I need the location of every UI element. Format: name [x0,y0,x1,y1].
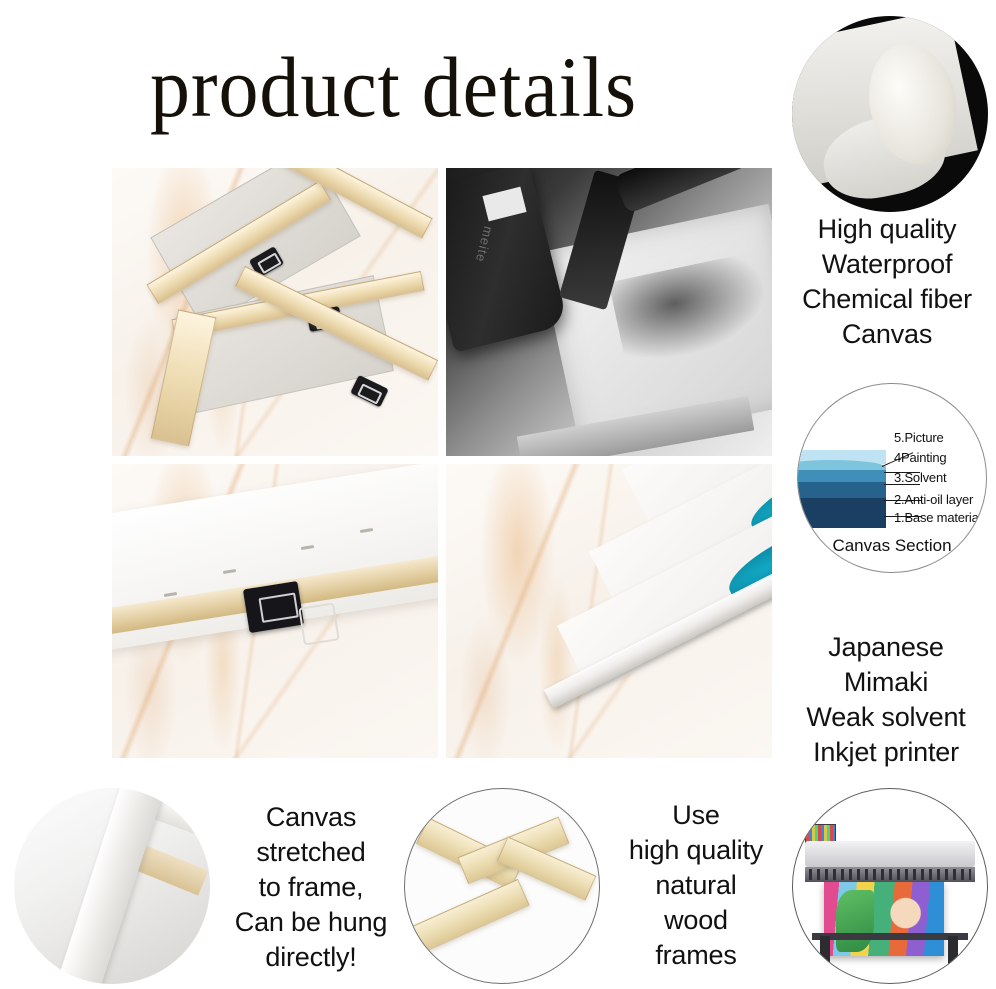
layer-label-2: 2.Anti-oil layer [894,492,973,507]
wood-frame-photo [404,788,600,984]
layer-label-5: 5.Picture [894,430,944,445]
stacked-canvas-photo [446,464,772,758]
canvas-roll-photo [792,16,988,212]
layer-label-3: 3.Solvent [894,470,946,485]
canvas-bracket-photo [112,464,438,758]
wall-hook-icon [298,603,339,646]
wooden-frames-photo [112,168,438,456]
staple-gun-photo: meite [446,168,772,456]
canvas-cross-section [797,450,886,528]
hanging-bracket-icon [243,580,305,632]
layer-label-4: 4Painting [894,450,946,465]
wood-frame-caption: Use high quality natural wood frames [606,798,786,973]
stretched-canvas-photo [14,788,210,984]
stretched-canvas-caption: Canvas stretched to frame, Can be hung d… [216,800,406,975]
page-title: product details [150,48,745,126]
canvas-section-caption: Canvas Section [798,536,986,556]
canvas-section-diagram: 5.Picture 4Painting 3.Solvent 2.Anti-oil… [797,383,987,573]
layer-label-1: 1.Base material [894,510,981,525]
canvas-quality-caption: High quality Waterproof Chemical fiber C… [778,212,996,352]
frame-hanger-icon [350,375,388,407]
printer-caption: Japanese Mimaki Weak solvent Inkjet prin… [776,630,996,770]
inkjet-printer-photo [792,788,988,984]
main-photo-grid: meite [112,168,772,758]
product-details-infographic: product details meite [0,0,996,989]
